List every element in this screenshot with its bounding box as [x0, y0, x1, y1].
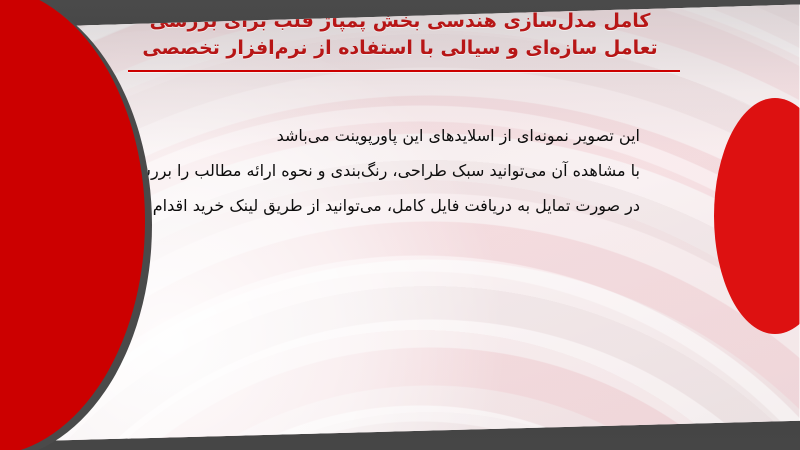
slide-body-text: این تصویر نمونه‌ای از اسلایدهای این پاور…: [83, 118, 640, 223]
body-line-1: این تصویر نمونه‌ای از اسلایدهای این پاور…: [83, 118, 640, 153]
title-divider: [128, 70, 680, 72]
presentation-slide: کامل مدل‌سازی هندسی بخش پمپاژ قلب برای ب…: [0, 0, 800, 450]
body-line-2: با مشاهده آن می‌توانید سبک طراحی، رنگ‌بن…: [83, 153, 640, 188]
body-line-3: در صورت تمایل به دریافت فایل کامل، می‌تو…: [83, 188, 640, 223]
title-line-2: تعامل سازه‌ای و سیالی با استفاده از نرم‌…: [0, 35, 800, 62]
